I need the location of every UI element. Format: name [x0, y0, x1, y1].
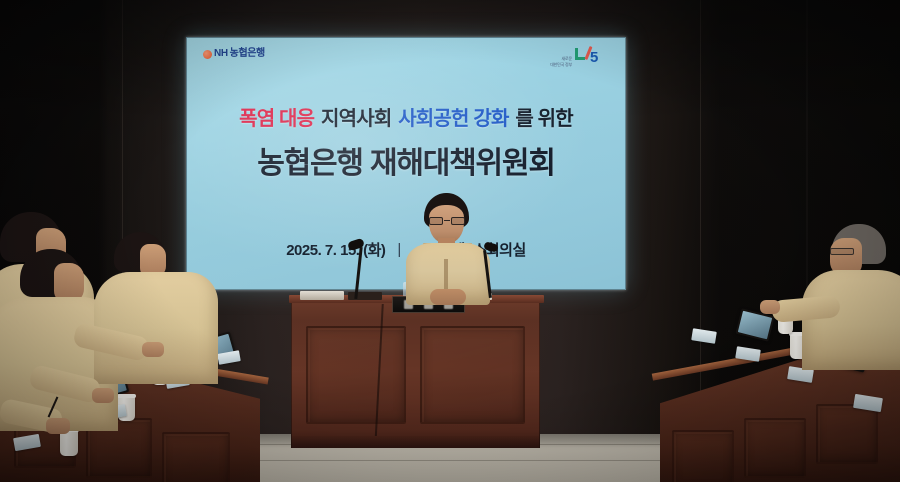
speaker-glasses-icon: [428, 217, 466, 225]
podium-panel-right: [420, 326, 525, 424]
podium-panel-left: [306, 326, 406, 424]
podium-device-box: [348, 292, 382, 300]
slide-subtitle-segment-1: 폭염 대응: [239, 108, 314, 130]
slide-subtitle-segment-4: 를 위한: [515, 108, 573, 130]
attendee-hand: [760, 300, 780, 314]
nh-logo-initials: NH: [214, 49, 228, 59]
nh-mark-icon: [203, 50, 212, 59]
tablet-screen: [738, 311, 772, 340]
government-emblem: 새로운 대한민국 정부 5: [550, 46, 601, 68]
attendee-hand: [92, 388, 114, 403]
gov-line-2: 대한민국 정부: [550, 62, 572, 68]
attendee-right-1: [824, 224, 900, 364]
attendee-jacket: [94, 272, 218, 384]
slide-subtitle: 폭염 대응 지역사회 사회공헌 강화 를 위한: [187, 102, 625, 131]
slide-title: 농협은행 재해대책위원회: [187, 138, 625, 182]
table-panel: [816, 404, 878, 464]
podium-documents: [300, 291, 344, 300]
government-emblem-text: 새로운 대한민국 정부: [550, 56, 572, 68]
attendee-jacket: [802, 270, 900, 370]
glasses-lens-right: [451, 217, 465, 225]
table-panel: [672, 430, 734, 482]
slide-logo-row: NH 농협은행 새로운 대한민국 정부 5: [187, 44, 625, 84]
attendee-glasses-icon: [830, 248, 854, 255]
glasses-lens-left: [429, 217, 443, 225]
attendee-hand: [46, 418, 70, 434]
nh-nonghyup-bank-logo: NH 농협은행: [203, 49, 265, 59]
nh-logo-korean: 농협은행: [230, 49, 265, 59]
table-panel: [162, 432, 230, 482]
glasses-bridge: [444, 220, 450, 221]
attendee-hand: [142, 342, 164, 357]
table-panel: [744, 418, 806, 478]
head-table-podium: [291, 300, 540, 448]
slide-subtitle-segment-3: 사회공헌 강화: [398, 108, 508, 130]
gov-mark-icon: 5: [575, 46, 601, 68]
speaker-hands: [430, 289, 466, 305]
slide-subtitle-segment-2: 지역사회: [321, 108, 391, 130]
slide-date: 2025. 7. 15. (화): [286, 239, 385, 260]
podium-base: [292, 436, 539, 448]
conference-room-scene: NH 농협은행 새로운 대한민국 정부 5 폭염 대응 지역사회 사회공헌 강화…: [0, 0, 900, 482]
gov-letter: 5: [590, 50, 598, 65]
attendee-left-3: [100, 232, 220, 382]
